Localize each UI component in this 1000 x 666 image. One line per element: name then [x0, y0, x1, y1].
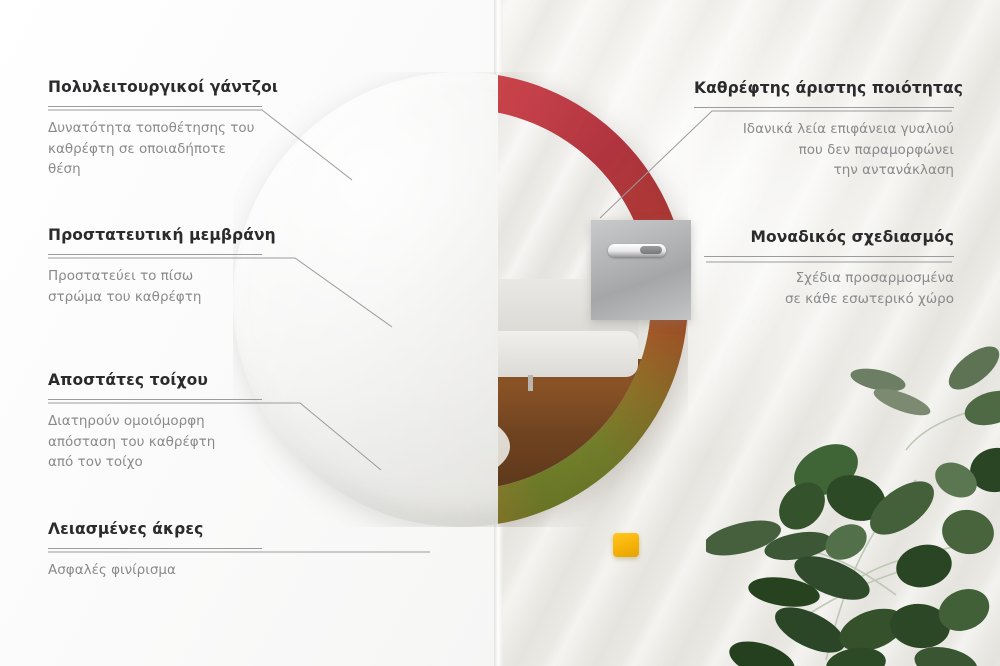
- callout-spacers: Αποστάτες τοίχου Διατηρούν ομοιόμορφηαπό…: [48, 371, 262, 473]
- callout-membrane: Προστατευτική μεμβράνη Προστατεύει το πί…: [48, 226, 262, 307]
- product-feature-diagram: Πολυλειτουργικοί γάντζοι Δυνατότητα τοπο…: [0, 0, 1000, 666]
- callout-glass: Καθρέφτης άριστης ποιότητας Ιδανικά λεία…: [694, 79, 954, 181]
- decorative-plant: [706, 330, 1000, 666]
- callout-title: Αποστάτες τοίχου: [48, 371, 262, 390]
- callout-title: Μοναδικός σχεδιασμός: [704, 228, 954, 247]
- callout-description: Ιδανικά λεία επιφάνεια γυαλιούπου δεν πα…: [694, 119, 954, 182]
- hook-keyhole-slot: [608, 244, 666, 257]
- callout-description: Σχέδια προσαρμοσμένασε κάθε εσωτερικό χώ…: [704, 268, 954, 310]
- callout-title: Πολυλειτουργικοί γάντζοι: [48, 78, 262, 97]
- callout-edges: Λειασμένες άκρες Ασφαλές φινίρισμα: [48, 520, 262, 581]
- mirror-back-half: [233, 72, 498, 527]
- callout-rule: [48, 548, 262, 549]
- callout-rule: [48, 106, 262, 107]
- callout-design: Μοναδικός σχεδιασμός Σχέδια προσαρμοσμέν…: [704, 228, 954, 309]
- callout-description: Ασφαλές φινίρισμα: [48, 560, 262, 581]
- callout-hooks: Πολυλειτουργικοί γάντζοι Δυνατότητα τοπο…: [48, 78, 262, 180]
- callout-rule: [704, 256, 954, 257]
- callout-description: Δυνατότητα τοποθέτησης τουκαθρέφτη σε οπ…: [48, 118, 262, 181]
- callout-description: Διατηρούν ομοιόμορφηαπόσταση του καθρέφτ…: [48, 411, 262, 474]
- hanging-hook-plate: [591, 220, 691, 320]
- callout-rule: [694, 107, 954, 108]
- callout-rule: [48, 254, 262, 255]
- callout-rule: [48, 399, 262, 400]
- product-image: [233, 72, 688, 527]
- callout-description: Προστατεύει το πίσωστρώμα του καθρέφτη: [48, 266, 262, 308]
- callout-title: Προστατευτική μεμβράνη: [48, 226, 262, 245]
- wall-spacer: [613, 533, 639, 557]
- callout-title: Λειασμένες άκρες: [48, 520, 262, 539]
- callout-title: Καθρέφτης άριστης ποιότητας: [694, 79, 954, 98]
- mirror-edge: [233, 72, 498, 527]
- plant-leaves-icon: [706, 330, 1000, 666]
